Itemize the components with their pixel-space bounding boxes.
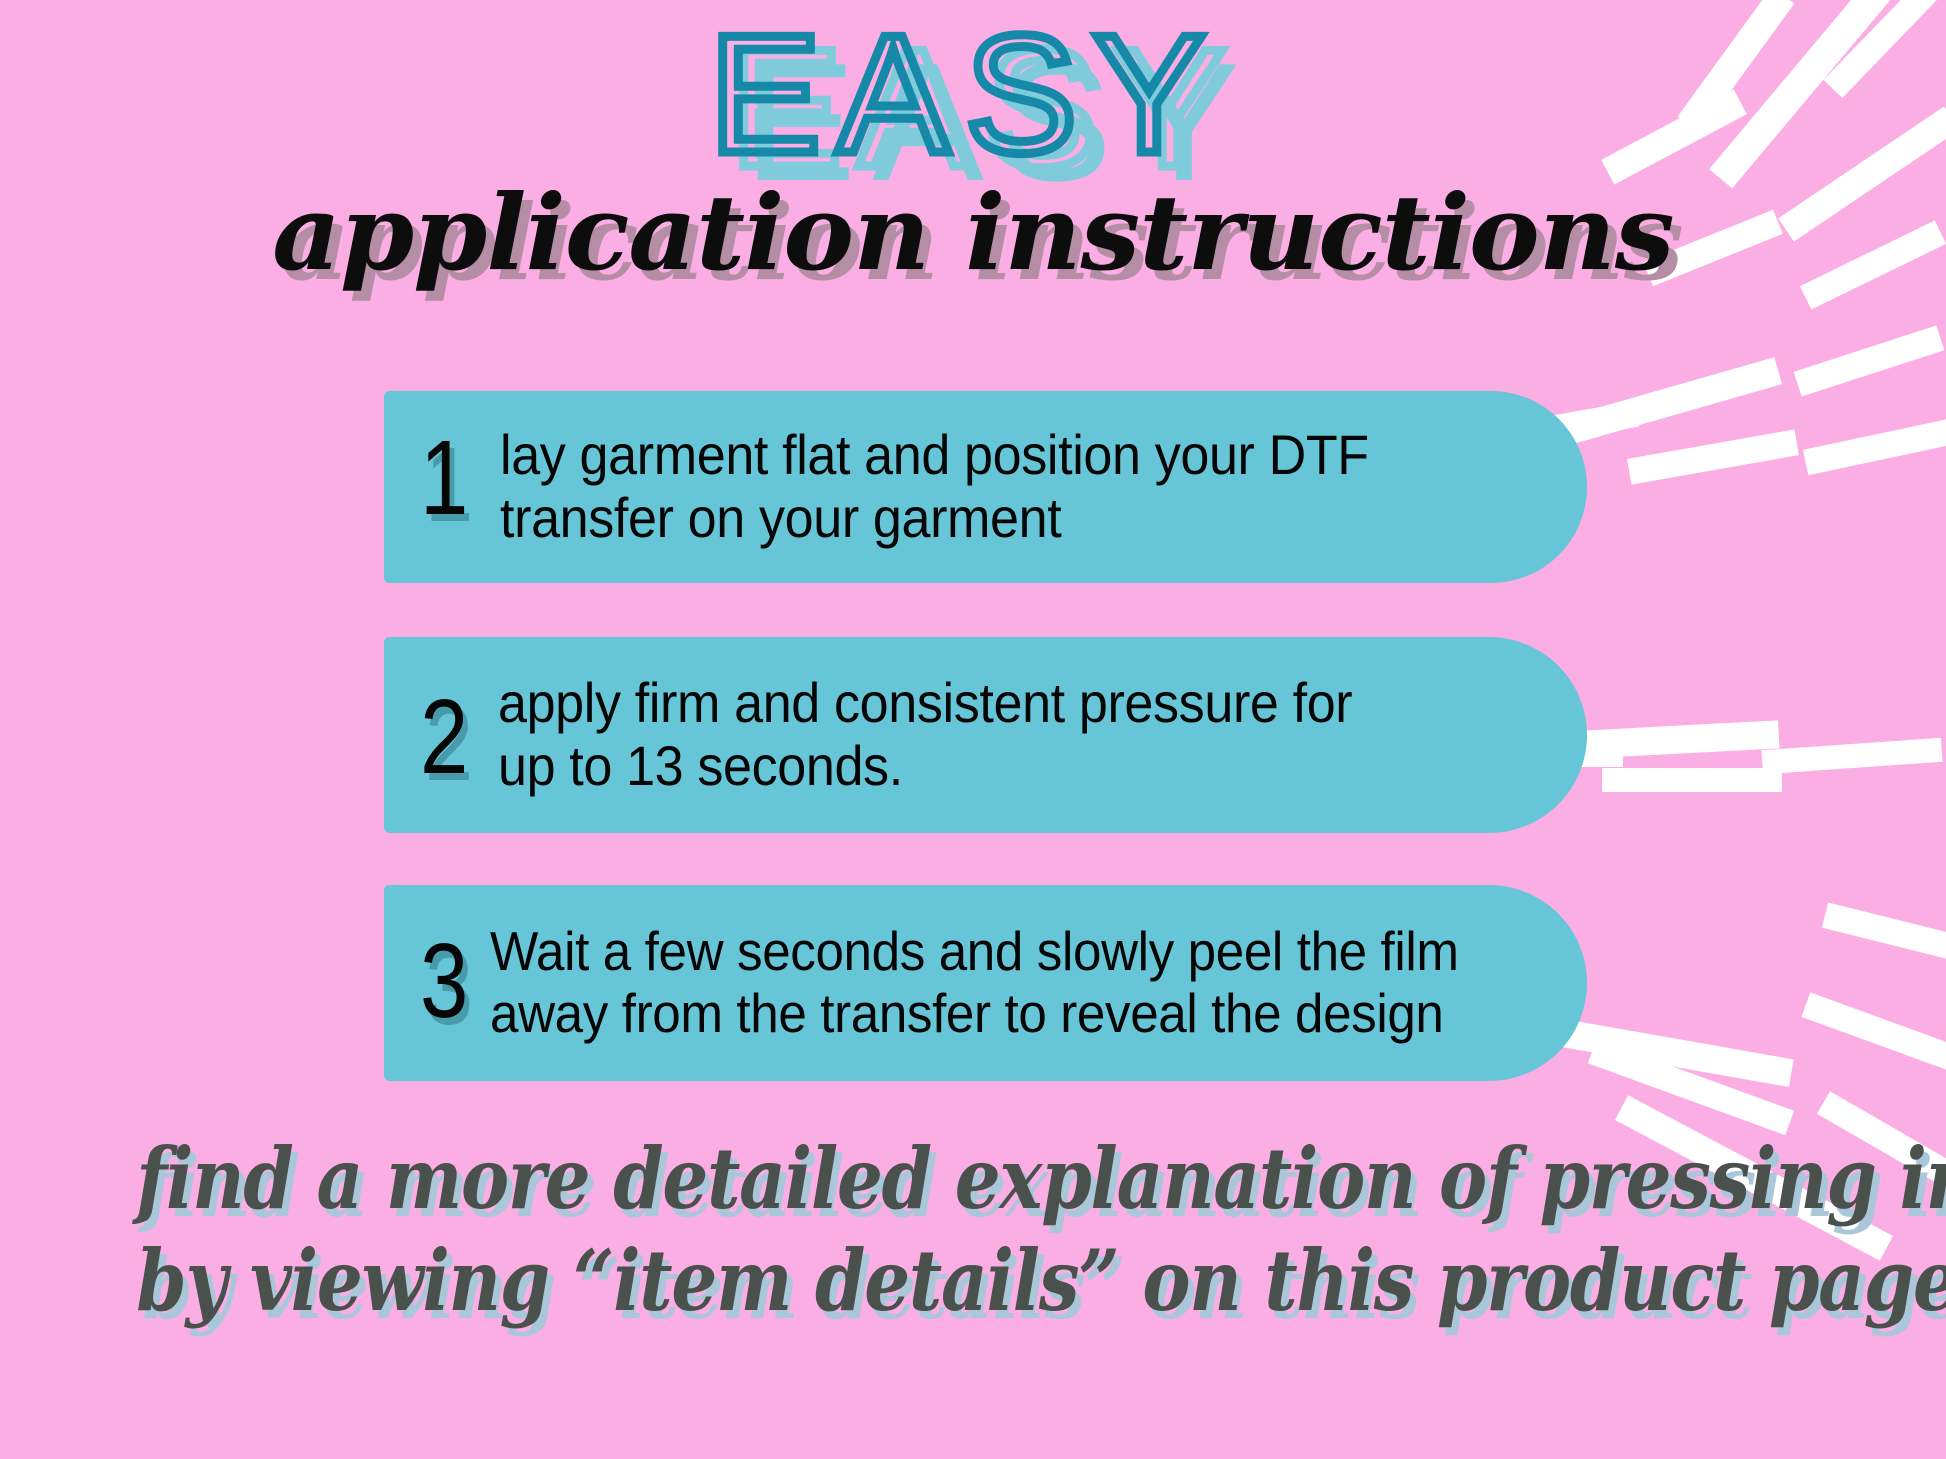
step-text-3-line2: away from the transfer to reveal the des… bbox=[490, 983, 1459, 1045]
headline-easy-container: EASY EASY bbox=[0, 10, 1946, 178]
headline-subtitle: application instructions bbox=[272, 178, 1673, 287]
step-text-2: apply firm and consistent pressure for u… bbox=[498, 672, 1352, 797]
headline-easy-shadow: EASY bbox=[722, 24, 1250, 192]
step-text-1-line2: transfer on your garment bbox=[500, 487, 1369, 550]
step-number-1: 1 bbox=[420, 431, 474, 526]
step-row-2: 2 apply firm and consistent pressure for… bbox=[384, 637, 1587, 833]
ray bbox=[1801, 992, 1946, 1071]
ray bbox=[1643, 210, 1783, 287]
footer-line-1: find a more detailed explanation of pres… bbox=[136, 1128, 1810, 1230]
ray bbox=[1794, 325, 1945, 396]
step-row-3: 3 Wait a few seconds and slowly peel the… bbox=[384, 885, 1587, 1081]
ray bbox=[1824, 0, 1946, 98]
footer-line-2: by viewing “item details” on this produc… bbox=[136, 1230, 1810, 1332]
step-text-1-line1: lay garment flat and position your DTF bbox=[500, 424, 1369, 487]
ray bbox=[1800, 220, 1946, 309]
step-number-2: 2 bbox=[420, 690, 474, 785]
step-text-1: lay garment flat and position your DTF t… bbox=[500, 424, 1369, 549]
headline-easy-front: EASY bbox=[709, 0, 1221, 188]
headline-easy: EASY EASY bbox=[709, 10, 1237, 178]
ray bbox=[1615, 1095, 1893, 1261]
ray bbox=[1678, 0, 1795, 133]
ray bbox=[1601, 89, 1747, 184]
ray bbox=[1588, 1039, 1794, 1135]
ray bbox=[1627, 429, 1799, 484]
step-row-1: 1 lay garment flat and position your DTF… bbox=[384, 391, 1587, 583]
step-text-3-line1: Wait a few seconds and slowly peel the f… bbox=[490, 921, 1459, 983]
step-text-3: Wait a few seconds and slowly peel the f… bbox=[490, 921, 1459, 1044]
step-number-3: 3 bbox=[420, 934, 474, 1029]
ray bbox=[1602, 768, 1782, 792]
ray bbox=[1709, 0, 1893, 188]
ray bbox=[1817, 1091, 1946, 1199]
ray bbox=[1778, 106, 1946, 241]
ray bbox=[1761, 738, 1942, 774]
step-text-2-line1: apply firm and consistent pressure for bbox=[498, 672, 1352, 735]
poster-canvas: EASY EASY application instructions 1 lay… bbox=[0, 0, 1946, 1459]
footer-note: find a more detailed explanation of pres… bbox=[0, 1128, 1946, 1333]
headline-subtitle-container: application instructions bbox=[0, 178, 1946, 287]
ray bbox=[1822, 902, 1946, 961]
ray bbox=[1803, 419, 1946, 476]
step-text-2-line2: up to 13 seconds. bbox=[498, 735, 1352, 798]
